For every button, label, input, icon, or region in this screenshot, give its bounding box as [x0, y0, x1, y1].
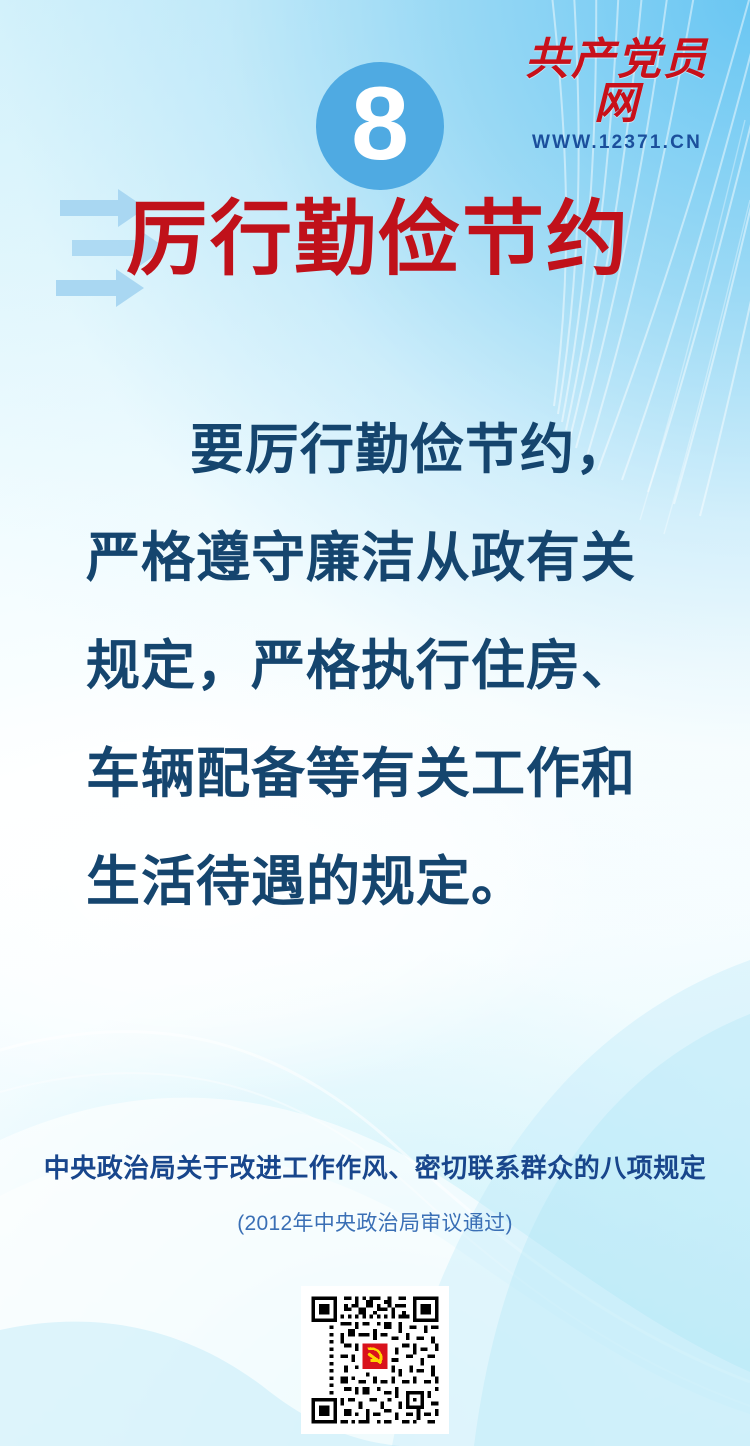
body-line-1: 要厉行勤俭节约， [86, 396, 664, 504]
site-logo-url: WWW.12371.CN [508, 133, 726, 152]
item-number-badge: 8 [316, 62, 444, 190]
footer-regulation-title: 中央政治局关于改进工作作风、密切联系群众的八项规定 [0, 1148, 750, 1185]
body-line-5: 生活待遇的规定。 [86, 828, 664, 936]
page-title: 厉行勤俭节约 [126, 196, 686, 285]
site-logo: 共产党员网 WWW.12371.CN [508, 38, 726, 152]
site-logo-brand: 共产党员网 [508, 38, 726, 126]
qr-code-image [308, 1293, 442, 1427]
body-line-2: 严格遵守廉洁从政有关 [86, 504, 664, 612]
footer-block: 中央政治局关于改进工作作风、密切联系群众的八项规定 (2012年中央政治局审议通… [0, 1148, 750, 1237]
poster-root: 共产党员网 WWW.12371.CN 8 厉行勤俭节约 要厉行勤俭节约， 严格遵… [0, 0, 750, 1446]
footer-regulation-subtitle: (2012年中央政治局审议通过) [0, 1207, 750, 1237]
item-number-text: 8 [351, 72, 409, 176]
body-line-4: 车辆配备等有关工作和 [86, 720, 664, 828]
qr-code[interactable] [301, 1286, 449, 1434]
body-line-3: 规定，严格执行住房、 [86, 612, 664, 720]
body-paragraph: 要厉行勤俭节约， 严格遵守廉洁从政有关 规定，严格执行住房、 车辆配备等有关工作… [86, 396, 664, 936]
